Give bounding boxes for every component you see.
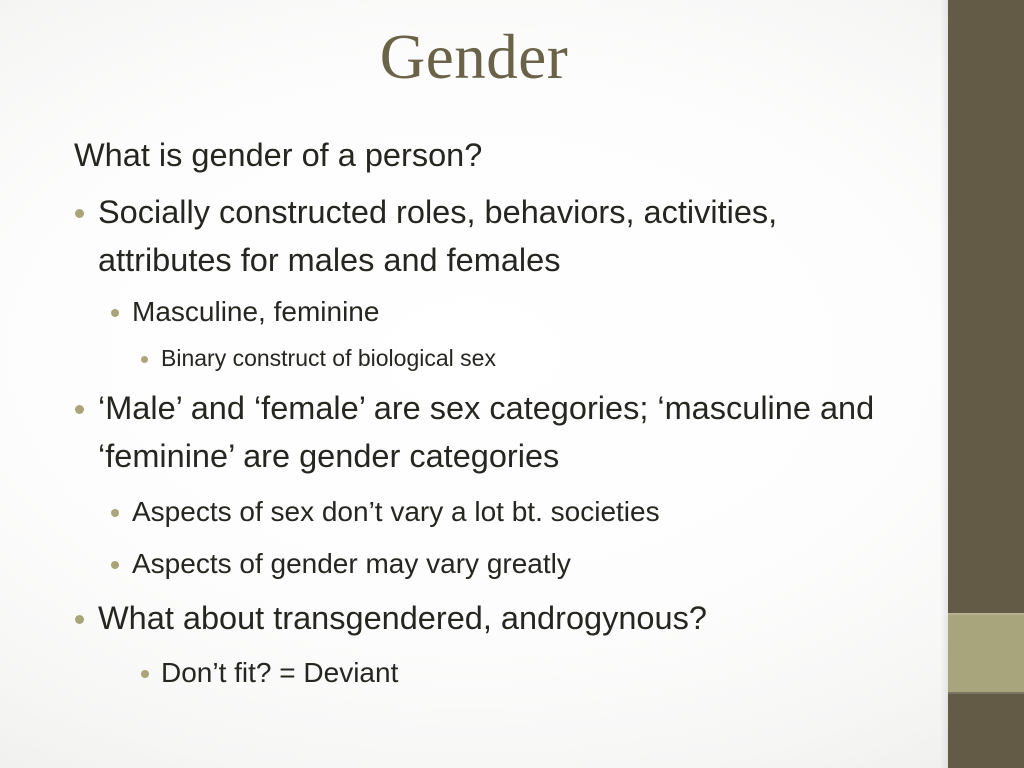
slide: Gender What is gender of a person? Socia… (0, 0, 1024, 768)
sidebar-band-accent (948, 613, 1024, 692)
sidebar-decoration (948, 0, 1024, 768)
body-line: Masculine, feminine (70, 290, 900, 333)
body-line-text: Don’t fit? = Deviant (161, 651, 900, 694)
body-line: What about transgendered, androgynous? (70, 594, 900, 642)
body-line: What is gender of a person? (70, 131, 900, 179)
body-line-text: ‘Male’ and ‘female’ are sex categories; … (98, 384, 900, 480)
body-line: Don’t fit? = Deviant (70, 651, 900, 694)
body-line: Socially constructed roles, behaviors, a… (70, 188, 900, 284)
slide-title: Gender (0, 22, 948, 93)
body-line-text: Binary construct of biological sex (161, 340, 900, 377)
body-line-text: Aspects of gender may vary greatly (132, 542, 900, 585)
body-line-text: Masculine, feminine (132, 290, 900, 333)
body-line: ‘Male’ and ‘female’ are sex categories; … (70, 384, 900, 480)
body-line-text: Socially constructed roles, behaviors, a… (98, 188, 900, 284)
body-line-text: Aspects of sex don’t vary a lot bt. soci… (132, 490, 900, 533)
sidebar-band-bottom (948, 692, 1024, 768)
sidebar-band-top (948, 0, 1024, 613)
body-line: Aspects of sex don’t vary a lot bt. soci… (70, 490, 900, 533)
body-line-text: What is gender of a person? (74, 131, 900, 179)
body-line: Aspects of gender may vary greatly (70, 542, 900, 585)
slide-body: What is gender of a person? Socially con… (70, 131, 900, 694)
body-line-text: What about transgendered, androgynous? (98, 594, 900, 642)
body-line: Binary construct of biological sex (70, 340, 900, 377)
